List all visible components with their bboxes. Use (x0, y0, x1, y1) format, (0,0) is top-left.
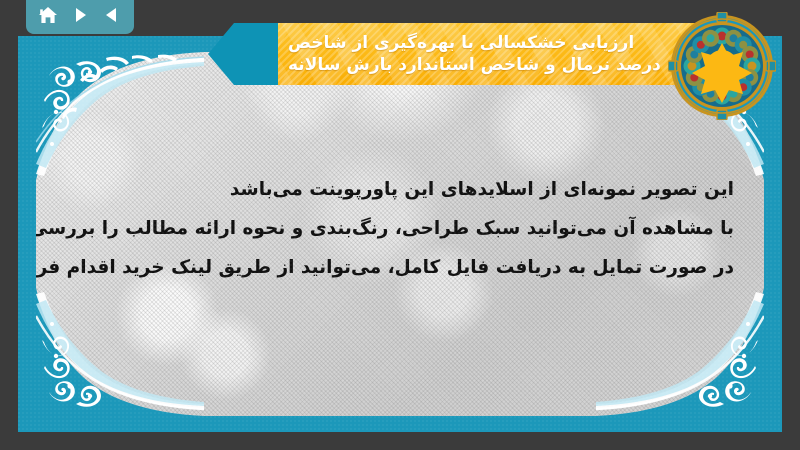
slide-preview-stage: این تصویر نمونه‌ای از اسلایدهای این پاور… (0, 0, 800, 450)
slide-body-line-3: در صورت تمایل به دریافت فایل کامل، می‌تو… (76, 248, 734, 287)
arabesque-corner-bottom-left-icon (36, 288, 204, 416)
home-button[interactable] (35, 3, 61, 27)
slide-content-canvas: این تصویر نمونه‌ای از اسلایدهای این پاور… (36, 52, 764, 416)
next-slide-button[interactable] (67, 3, 93, 27)
slide-teal-border: این تصویر نمونه‌ای از اسلایدهای این پاور… (18, 36, 782, 432)
previous-slide-button[interactable] (99, 3, 125, 27)
home-icon (38, 6, 58, 25)
arabesque-corner-top-left-icon (36, 52, 204, 180)
slide-body-line-1: این تصویر نمونه‌ای از اسلایدهای این پاور… (76, 170, 734, 209)
slide-body-line-2: با مشاهده آن می‌توانید سبک طراحی، رنگ‌بن… (76, 209, 734, 248)
arabesque-corner-bottom-right-icon (596, 288, 764, 416)
triangle-right-icon (71, 6, 89, 24)
slide-body-text: این تصویر نمونه‌ای از اسلایدهای این پاور… (76, 170, 734, 288)
slide-navigation-bar[interactable] (26, 0, 134, 34)
arabesque-corner-top-right-icon (596, 52, 764, 180)
triangle-left-icon (103, 6, 121, 24)
